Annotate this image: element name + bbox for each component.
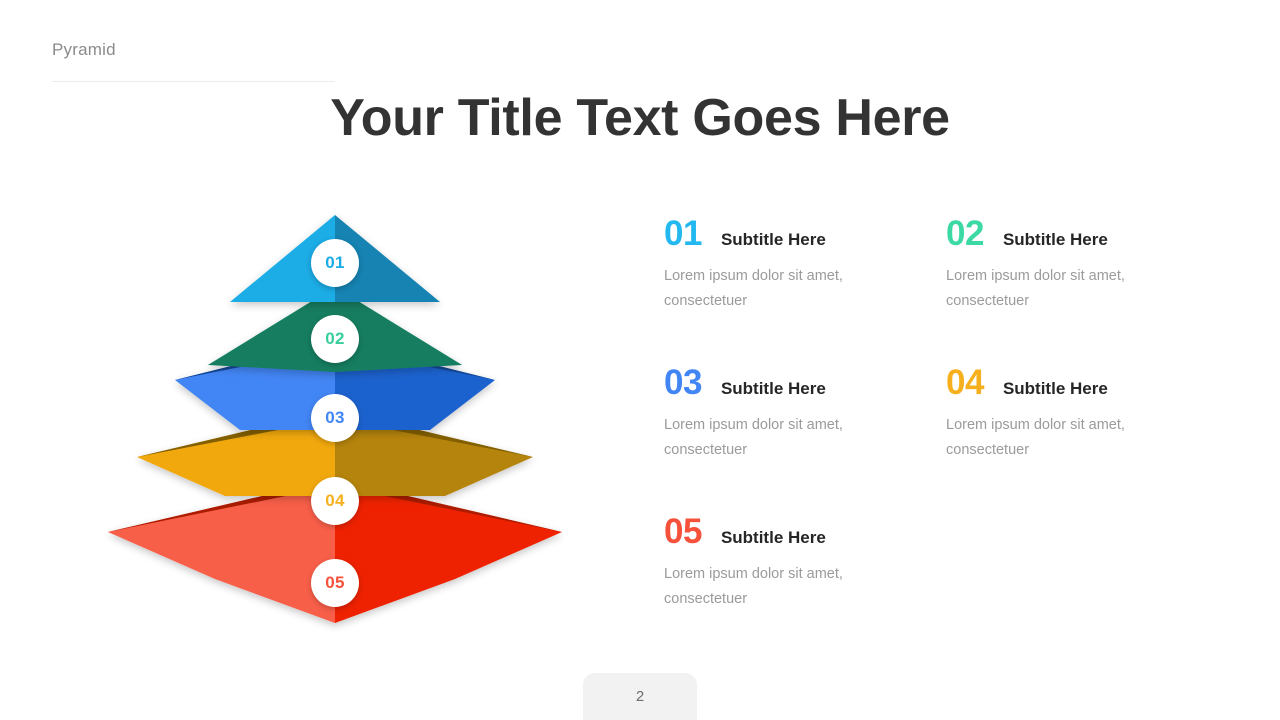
- pyramid-badge-01[interactable]: 01: [311, 239, 359, 287]
- item-05[interactable]: 05 Subtitle Here Lorem ipsum dolor sit a…: [664, 514, 946, 612]
- item-01-number: 01: [664, 216, 702, 251]
- item-03-head: 03 Subtitle Here: [664, 365, 946, 400]
- page-title: Your Title Text Goes Here: [0, 88, 1280, 148]
- pyramid-badge-03-label: 03: [325, 408, 345, 428]
- item-list: 01 Subtitle Here Lorem ipsum dolor sit a…: [664, 216, 1244, 663]
- item-05-number: 05: [664, 514, 702, 549]
- item-01-subtitle: Subtitle Here: [721, 231, 826, 248]
- level-05-left-face-b: [108, 479, 335, 623]
- item-04-subtitle: Subtitle Here: [1003, 380, 1108, 397]
- item-04[interactable]: 04 Subtitle Here Lorem ipsum dolor sit a…: [946, 365, 1228, 463]
- item-01-head: 01 Subtitle Here: [664, 216, 946, 251]
- header-divider: [52, 81, 335, 82]
- page-number-tab[interactable]: 2: [583, 673, 697, 720]
- pyramid-badge-03[interactable]: 03: [311, 394, 359, 442]
- item-04-description: Lorem ipsum dolor sit amet, consectetuer: [946, 413, 1181, 463]
- item-02-description: Lorem ipsum dolor sit amet, consectetuer: [946, 264, 1181, 314]
- item-02-subtitle: Subtitle Here: [1003, 231, 1108, 248]
- pyramid-badge-04[interactable]: 04: [311, 477, 359, 525]
- item-03-description: Lorem ipsum dolor sit amet, consectetuer: [664, 413, 899, 463]
- item-01[interactable]: 01 Subtitle Here Lorem ipsum dolor sit a…: [664, 216, 946, 314]
- item-row-3: 05 Subtitle Here Lorem ipsum dolor sit a…: [664, 514, 1244, 663]
- item-row-2: 03 Subtitle Here Lorem ipsum dolor sit a…: [664, 365, 1244, 514]
- item-03-number: 03: [664, 365, 702, 400]
- item-05-head: 05 Subtitle Here: [664, 514, 946, 549]
- item-04-head: 04 Subtitle Here: [946, 365, 1228, 400]
- item-05-description: Lorem ipsum dolor sit amet, consectetuer: [664, 562, 899, 612]
- pyramid-badge-01-label: 01: [325, 253, 345, 273]
- pyramid-badge-02-label: 02: [325, 329, 345, 349]
- item-01-description: Lorem ipsum dolor sit amet, consectetuer: [664, 264, 899, 314]
- item-02[interactable]: 02 Subtitle Here Lorem ipsum dolor sit a…: [946, 216, 1228, 314]
- level-05-right-face: [335, 479, 562, 623]
- item-04-number: 04: [946, 365, 984, 400]
- slide-label: Pyramid: [52, 40, 116, 60]
- page-number: 2: [636, 688, 644, 705]
- item-row-1: 01 Subtitle Here Lorem ipsum dolor sit a…: [664, 216, 1244, 365]
- item-03[interactable]: 03 Subtitle Here Lorem ipsum dolor sit a…: [664, 365, 946, 463]
- item-03-subtitle: Subtitle Here: [721, 380, 826, 397]
- pyramid-badge-05[interactable]: 05: [311, 559, 359, 607]
- pyramid-diagram: 01 02 03 04 05: [80, 190, 600, 650]
- item-slot-empty: [946, 514, 1228, 612]
- pyramid-badge-05-label: 05: [325, 573, 345, 593]
- item-02-number: 02: [946, 216, 984, 251]
- pyramid-badge-04-label: 04: [325, 491, 345, 511]
- pyramid-badge-02[interactable]: 02: [311, 315, 359, 363]
- item-02-head: 02 Subtitle Here: [946, 216, 1228, 251]
- item-05-subtitle: Subtitle Here: [721, 529, 826, 546]
